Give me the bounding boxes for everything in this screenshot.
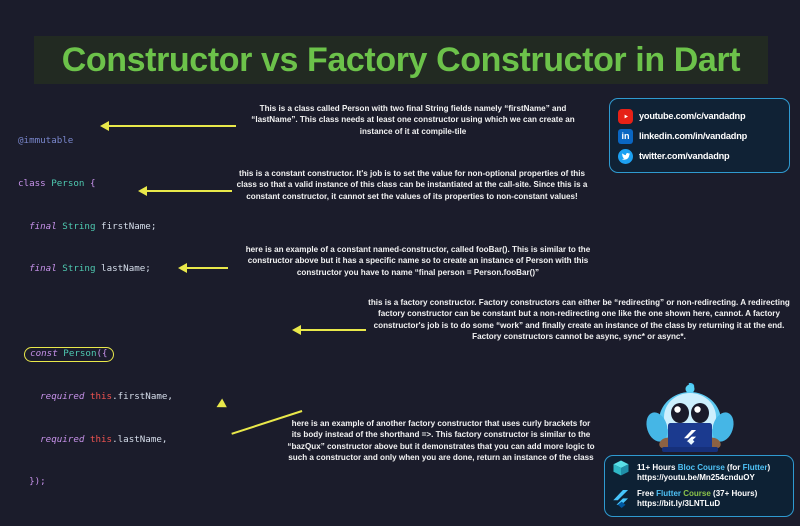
social-label-linkedin: linkedin.com/in/vandadnp	[639, 131, 747, 141]
note-factory-constructor: this is a factory constructor. Factory c…	[366, 297, 792, 343]
page-title: Constructor vs Factory Constructor in Da…	[62, 41, 740, 80]
arrow-head-const	[138, 186, 147, 196]
courses-card: 11+ Hours Bloc Course (for Flutter) http…	[604, 455, 794, 517]
course-url-flutter[interactable]: https://bit.ly/3LNTLuD	[637, 499, 770, 510]
arrow-head-named	[178, 263, 187, 273]
courses-text-column: 11+ Hours Bloc Course (for Flutter) http…	[637, 463, 770, 510]
course-title-bloc: 11+ Hours Bloc Course (for Flutter)	[637, 463, 770, 474]
social-label-twitter: twitter.com/vandadnp	[639, 151, 729, 161]
social-label-youtube: youtube.com/c/vandadnp	[639, 111, 745, 121]
arrow-line-named	[186, 267, 228, 269]
arrow-line-class	[108, 125, 236, 127]
code-line-highlighted: const Person({	[18, 347, 318, 361]
note-named-constructor: here is an example of a constant named-c…	[228, 244, 608, 278]
code-line: });	[18, 475, 318, 489]
course-item-bloc[interactable]: 11+ Hours Bloc Course (for Flutter) http…	[637, 463, 770, 484]
social-links-card: youtube.com/c/vandadnp in linkedin.com/i…	[609, 98, 790, 173]
note-const-constructor: this is a constant constructor. It's job…	[232, 168, 592, 202]
poster-canvas: Constructor vs Factory Constructor in Da…	[0, 0, 800, 526]
social-row-linkedin[interactable]: in linkedin.com/in/vandadnp	[618, 126, 781, 146]
social-row-youtube[interactable]: youtube.com/c/vandadnp	[618, 106, 781, 126]
bloc-cube-icon	[612, 459, 630, 482]
note-class: This is a class called Person with two f…	[238, 103, 588, 137]
title-banner: Constructor vs Factory Constructor in Da…	[34, 36, 768, 84]
code-line: required this.firstName,	[18, 390, 318, 404]
arrow-line-factory	[300, 329, 366, 331]
course-url-bloc[interactable]: https://youtu.be/Mn254cnduOY	[637, 473, 770, 484]
social-row-twitter[interactable]: twitter.com/vandadnp	[618, 146, 781, 166]
code-line	[18, 305, 318, 319]
courses-icon-column	[611, 459, 631, 513]
linkedin-icon: in	[618, 129, 633, 144]
arrow-head-factory	[292, 325, 301, 335]
code-line: final String firstName;	[18, 220, 318, 234]
code-line	[18, 518, 318, 526]
arrow-head-class	[100, 121, 109, 131]
twitter-icon	[618, 149, 633, 164]
arrow-line-const	[146, 190, 232, 192]
flutter-logo-icon	[613, 490, 629, 513]
course-title-flutter: Free Flutter Course (37+ Hours)	[637, 489, 770, 500]
course-item-flutter[interactable]: Free Flutter Course (37+ Hours) https://…	[637, 489, 770, 510]
code-line: required this.lastName,	[18, 433, 318, 447]
youtube-icon	[618, 109, 633, 124]
dash-mascot-with-laptop	[630, 383, 750, 461]
note-factory-body: here is an example of another factory co…	[286, 418, 596, 464]
const-constructor-highlight: const Person({	[24, 347, 114, 362]
